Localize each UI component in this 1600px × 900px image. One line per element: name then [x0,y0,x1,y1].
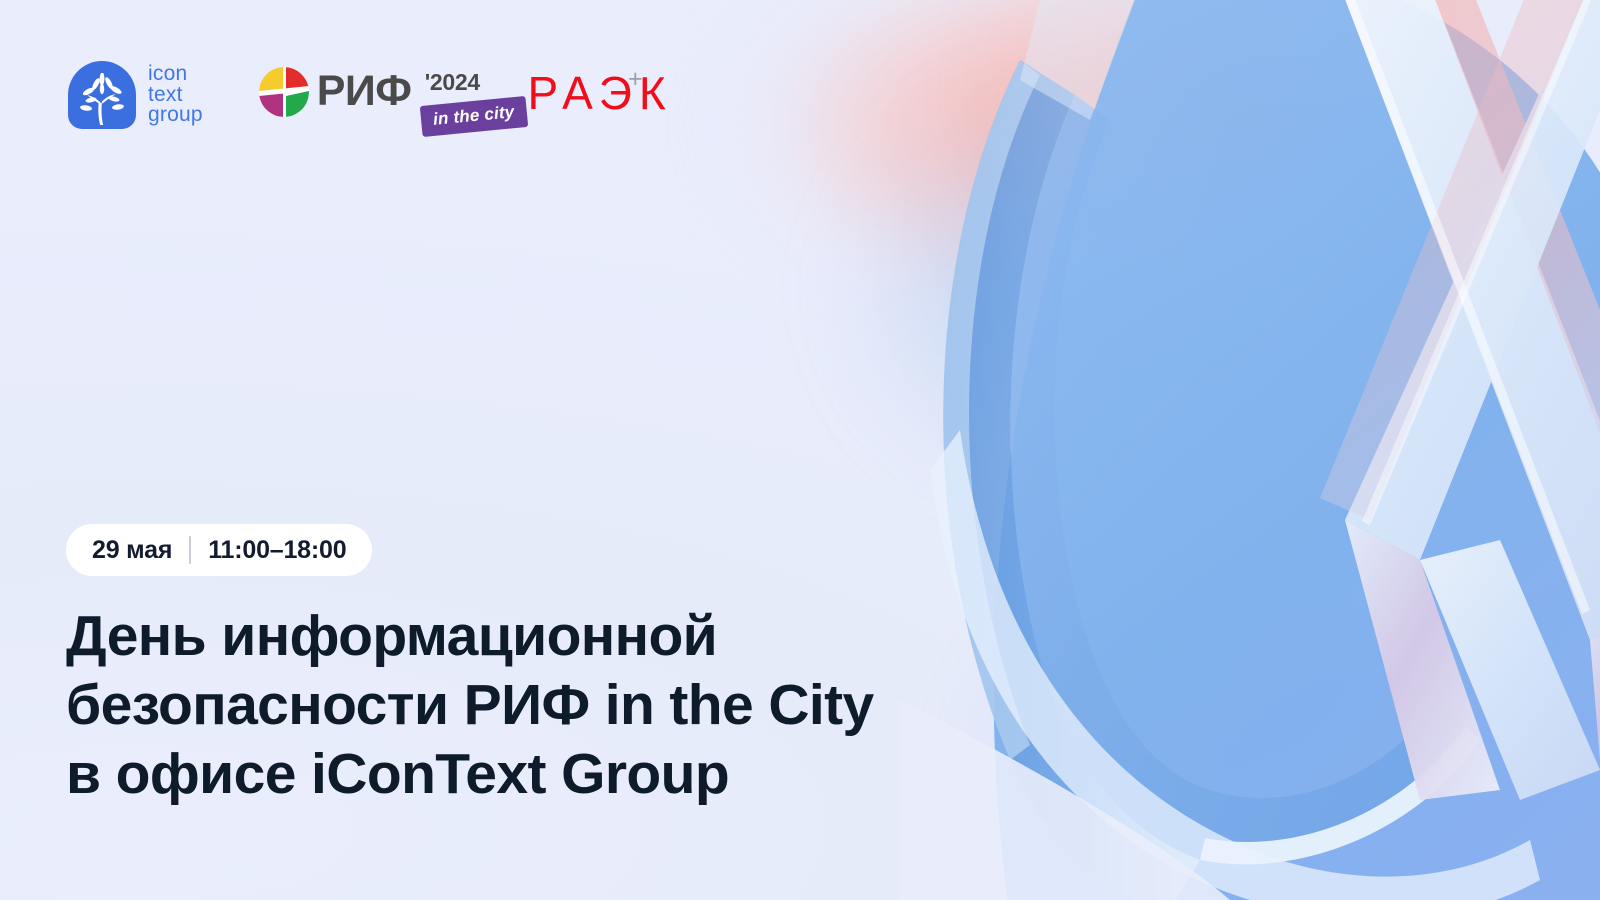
icontext-wordmark: icon text group [148,64,203,126]
rif-text-block: РИФ '2024 in the city [317,77,412,113]
event-date-badge: 29 мая 11:00–18:00 [66,524,372,576]
headline-line-2: безопасности РИФ in the City [66,671,1106,740]
raek-wordmark: РАЭК [528,67,673,119]
icontext-line-3: group [148,105,203,126]
badge-separator [189,536,191,564]
raek-logo[interactable]: РАЭК + [528,70,673,116]
headline-line-3: в офисе iConText Group [66,740,1106,809]
raek-plus-superscript: + [628,56,643,102]
page-title: День информационной безопасности РИФ in … [66,602,1106,809]
rif-in-the-city-badge: in the city [419,96,527,137]
event-date: 29 мая [92,536,172,565]
rif-pie-icon [259,67,309,117]
icon-text-group-logo[interactable]: icon text group [68,61,203,129]
event-poster: icon text group [0,0,1600,900]
event-time: 11:00–18:00 [208,536,346,565]
icontext-line-1: icon [148,64,203,85]
icontext-tree-mark [68,61,136,129]
icontext-line-2: text [148,85,203,106]
sponsor-logo-row: icon text group [68,52,673,138]
rif-wordmark: РИФ [317,69,412,113]
rif-in-the-city-logo[interactable]: РИФ '2024 in the city [259,52,412,138]
rif-year: '2024 [425,69,480,96]
headline-line-1: День информационной [66,602,1106,671]
